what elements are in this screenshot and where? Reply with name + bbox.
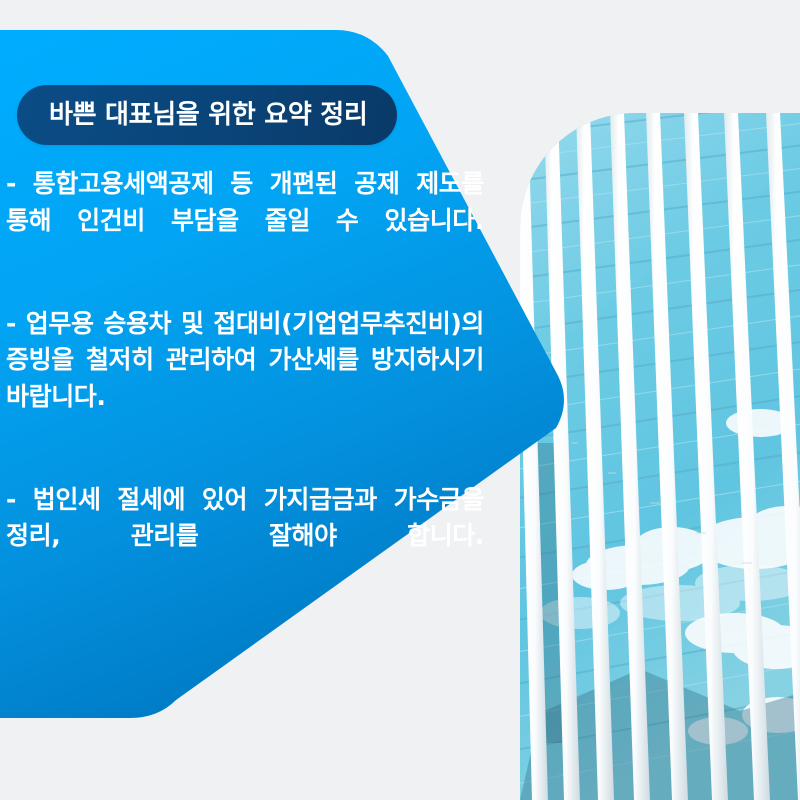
summary-card: 바쁜 대표님을 위한 요약 정리 - 통합고용세액공제 등 개편된 공제 제도를…: [0, 0, 800, 800]
summary-badge-label: 바쁜 대표님을 위한 요약 정리: [49, 102, 367, 128]
summary-paragraph-1: - 통합고용세액공제 등 개편된 공제 제도를 통해 인건비 부담을 줄일 수 …: [6, 166, 484, 276]
summary-body: - 통합고용세액공제 등 개편된 공제 제도를 통해 인건비 부담을 줄일 수 …: [6, 166, 484, 591]
summary-paragraph-3: - 법인세 절세에 있어 가지급금과 가수금을 정리, 관리를 잘해야 합니다.: [6, 482, 484, 592]
summary-badge: 바쁜 대표님을 위한 요약 정리: [17, 85, 397, 145]
panel-content: 바쁜 대표님을 위한 요약 정리 - 통합고용세액공제 등 개편된 공제 제도를…: [0, 0, 600, 800]
summary-paragraph-2: - 업무용 승용차 및 접대비(기업업무추진비)의 증빙을 철저히 관리하여 가…: [6, 306, 484, 452]
